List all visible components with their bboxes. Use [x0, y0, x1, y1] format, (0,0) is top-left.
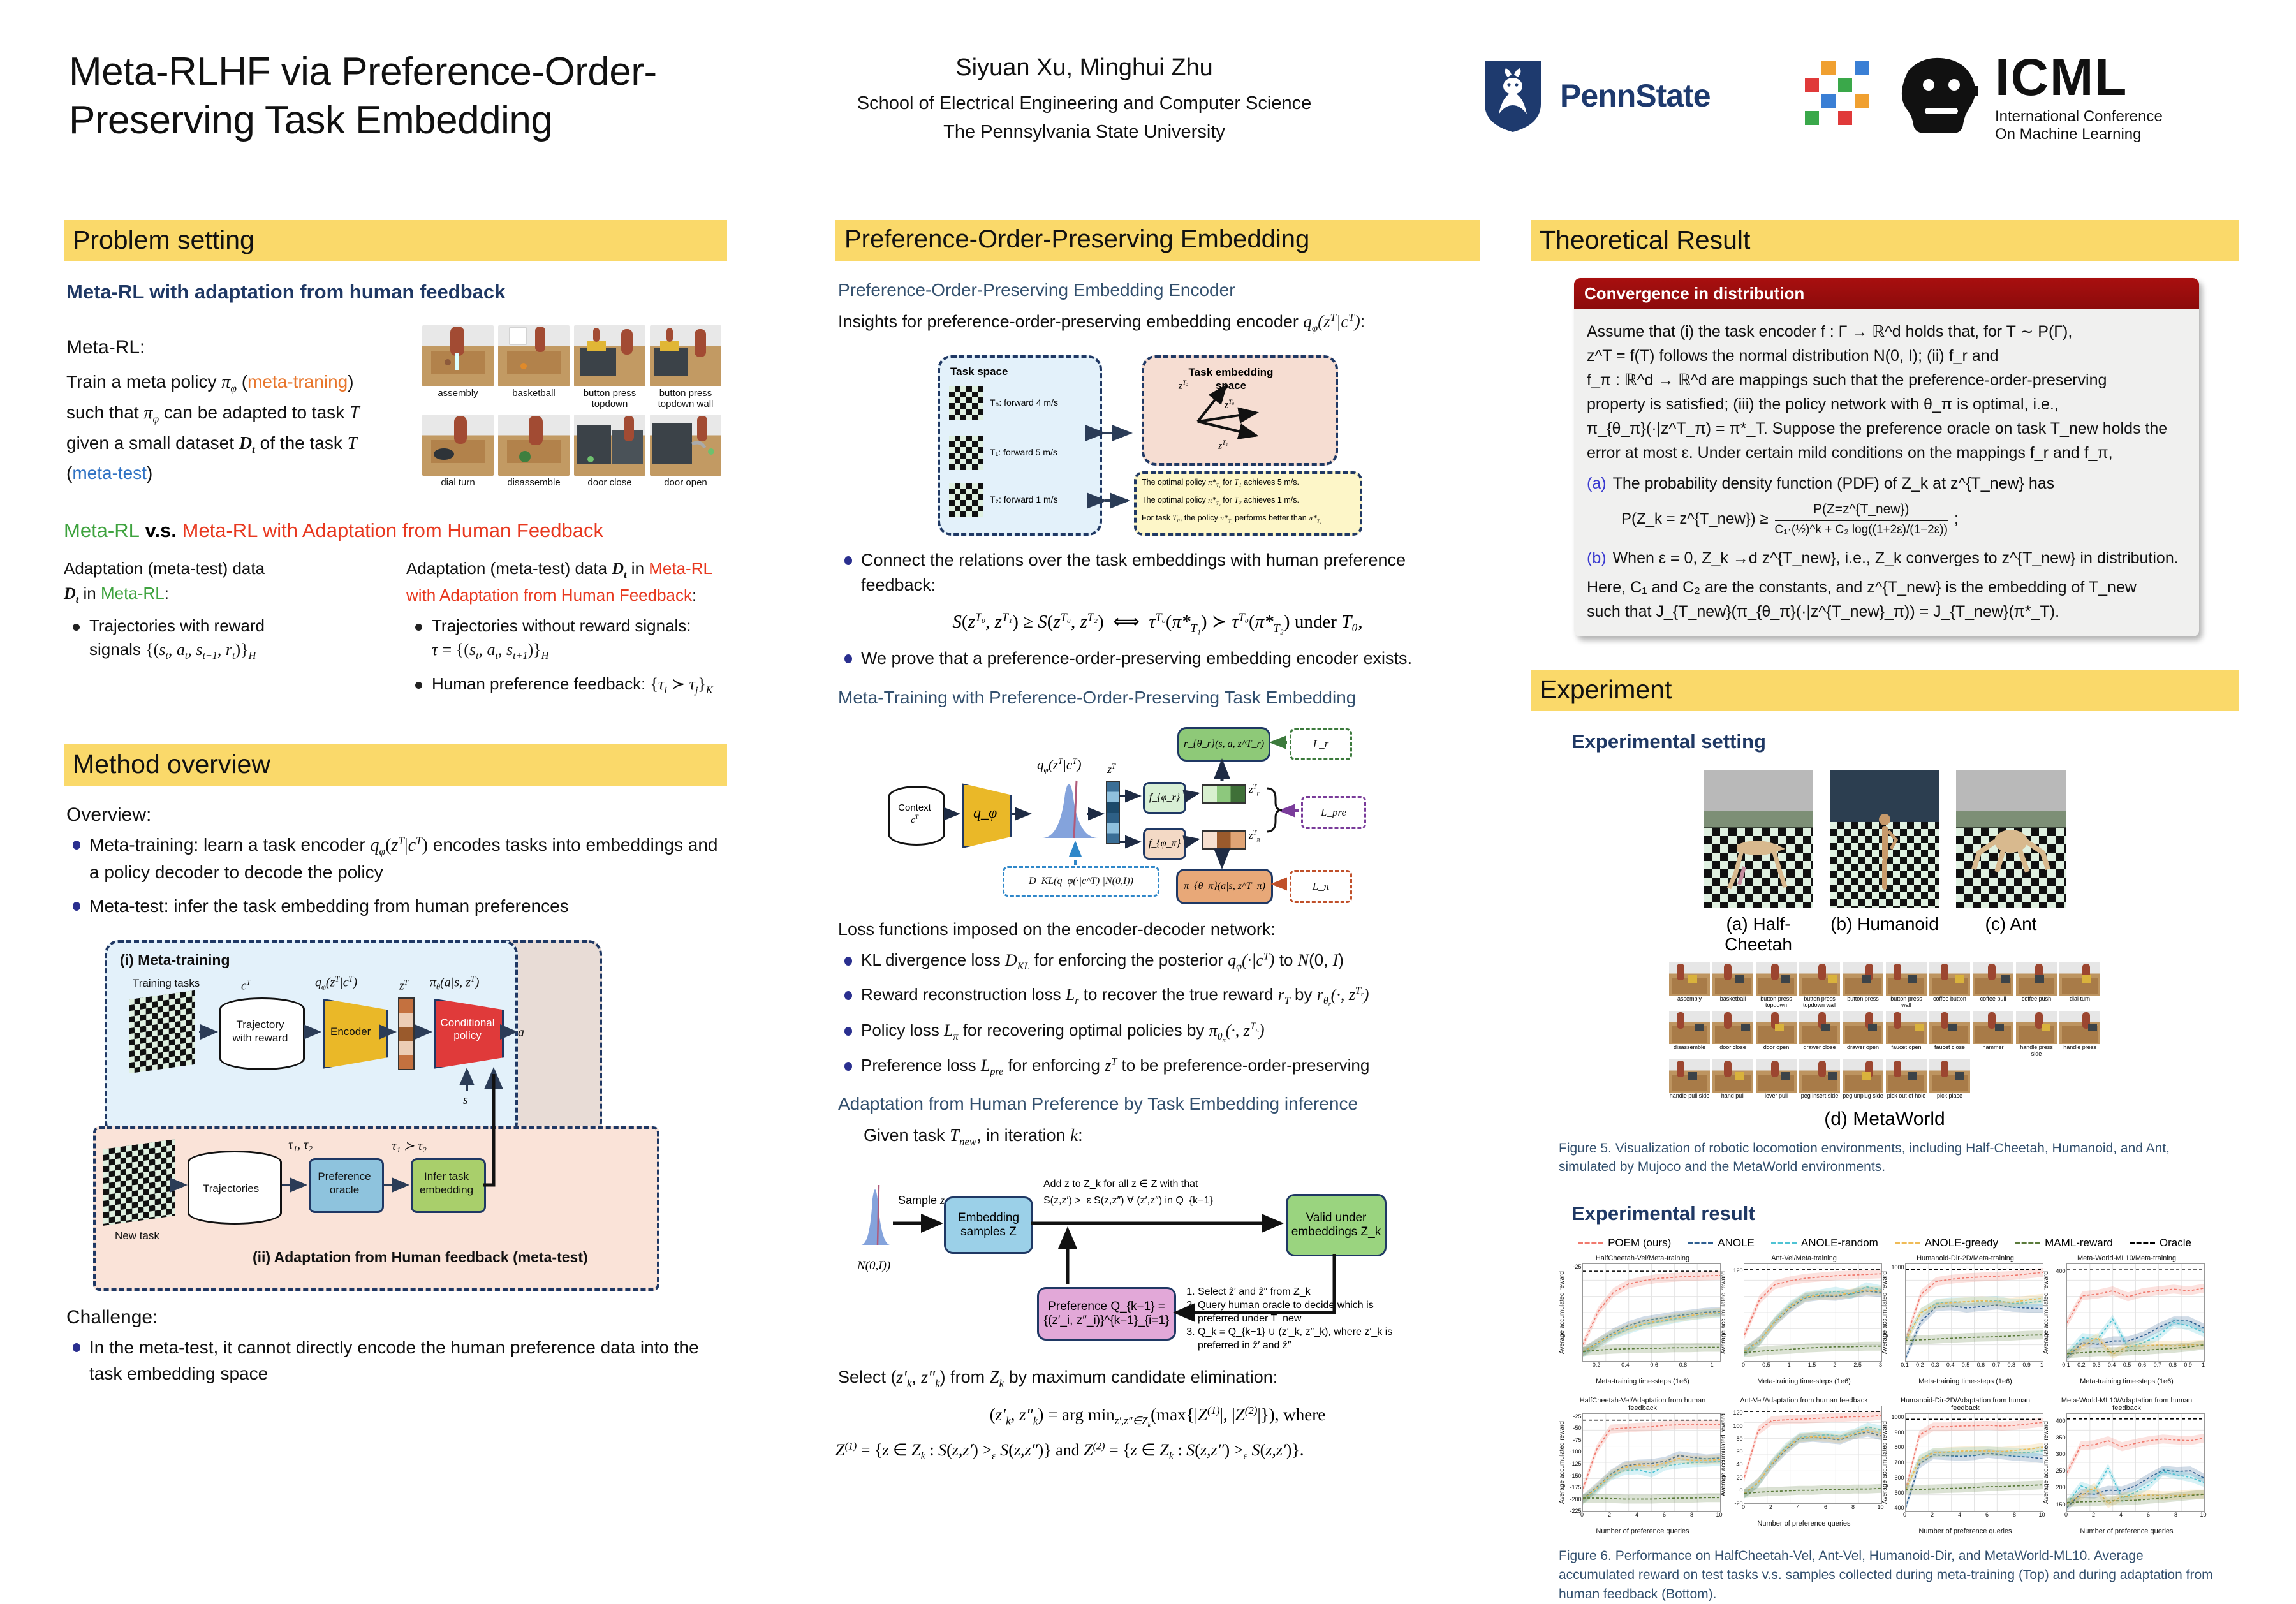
- robot-arm-thumb-image: [1669, 962, 1710, 996]
- thumb-caption: pick place: [1929, 1093, 1970, 1099]
- chart-series-svg: [2067, 1264, 2204, 1361]
- metaworld-small-thumb: lever pull: [1756, 1059, 1797, 1099]
- x-tick: 1.5: [1808, 1362, 1816, 1368]
- thumb-caption: assembly: [1669, 996, 1710, 1002]
- section-band-pope: Preference-Order-Preserving Embedding: [835, 220, 1480, 261]
- thumb-caption: coffee pull: [1973, 996, 2013, 1002]
- theorem-body: Assume that (i) the task encoder f : Γ →…: [1574, 309, 2199, 636]
- overview-label: Overview:: [66, 804, 727, 826]
- icml-wordmark: ICML International Conference On Machine…: [1995, 52, 2163, 142]
- robot-arm-image: [574, 325, 645, 386]
- comparison-right-list: Trajectories without reward signals:τ = …: [406, 614, 727, 698]
- x-axis-ticks: 0246810: [2066, 1512, 2204, 1519]
- comparison-left: Adaptation (meta-test) dataDt in Meta-RL…: [64, 556, 385, 707]
- theorem-assumption-6: error at most ε. Under certain mild cond…: [1587, 441, 2186, 465]
- author-names: Siyuan Xu, Minghui Zhu: [829, 54, 1339, 82]
- thumb-caption: pick out of hole: [1886, 1093, 1927, 1099]
- robot-arm-thumb-image: [1756, 1059, 1797, 1093]
- robot-arm-image: [422, 415, 494, 476]
- thumb-caption: button press topdown wall: [650, 388, 721, 410]
- y-axis-ticks: 1000900800700600500400: [1890, 1414, 1904, 1511]
- metaworld-small-thumb: button press topdown wall: [1799, 962, 1840, 1008]
- y-tick: 500: [1894, 1490, 1904, 1496]
- pennstate-wordmark: PennState: [1560, 77, 1711, 114]
- given-task-label: Given task Tnew, in iteration k:: [864, 1123, 1480, 1150]
- theorem-pdf-numerator: P(Z=z^{T_new}): [1813, 499, 1910, 520]
- metaworld-small-thumb: faucet close: [1929, 1011, 1970, 1057]
- comparison-heading: Meta-RL v.s. Meta-RL with Adaptation fro…: [64, 519, 727, 542]
- legend-entry: ANOLE-greedy: [1895, 1237, 1998, 1249]
- x-tick: 3: [1879, 1362, 1882, 1368]
- metaworld-small-thumb: button press: [1843, 962, 1883, 1008]
- penn-state-shield-icon: [1480, 58, 1546, 133]
- challenge-list: In the meta-test, it cannot directly enc…: [64, 1335, 727, 1387]
- chart: HalfCheetah-Vel/Adaptation from human fe…: [1566, 1397, 1719, 1535]
- fig1-conditional-policy-label: Conditionalpolicy: [439, 1017, 496, 1043]
- theorem-assumption-1: Assume that (i) the task encoder f : Γ →…: [1587, 320, 2186, 344]
- y-tick: 100: [1733, 1423, 1742, 1429]
- chart-plot-area: Average accumulated reward-25-50-75-100-…: [1582, 1413, 1721, 1512]
- icml-title: ICML: [1995, 52, 2163, 104]
- metaworld-thumb: button press topdown wall: [650, 325, 721, 410]
- metaworld-small-thumb: coffee pull: [1973, 962, 2013, 1008]
- robot-arm-thumb-image: [1712, 1059, 1753, 1093]
- embedding-vector-label-1: zT₁: [1218, 439, 1228, 452]
- x-axis-label: Meta-training time-steps (1e6): [1728, 1378, 1881, 1385]
- x-tick: 0.7: [2154, 1362, 2162, 1368]
- theorem-assumption-2: z^T = f(T) follows the normal distributi…: [1587, 344, 2186, 368]
- x-tick: 2: [1608, 1512, 1611, 1518]
- x-axis-label: Meta-training time-steps (1e6): [2050, 1378, 2204, 1385]
- y-tick: 350: [2056, 1434, 2065, 1441]
- robot-arm-image: [498, 325, 570, 386]
- x-tick: 6: [2147, 1512, 2150, 1518]
- thumb-caption: disassemble: [498, 478, 570, 489]
- pope-bullets-2: We prove that a preference-order-preserv…: [835, 646, 1480, 671]
- x-tick: 6: [1663, 1512, 1666, 1518]
- y-tick: -175: [1570, 1484, 1581, 1490]
- x-axis-label: Number of preference queries: [1728, 1520, 1881, 1527]
- list-item: Meta-training: learn a task encoder qφ(z…: [64, 832, 727, 886]
- x-tick: 8: [1690, 1512, 1693, 1518]
- thumb-caption: disassemble: [1669, 1045, 1710, 1050]
- chart-series-svg: [2067, 1414, 2204, 1511]
- x-tick: 0.2: [1916, 1362, 1924, 1368]
- env-caption-ant: (c) Ant: [1956, 914, 2066, 955]
- x-tick: 0: [2064, 1512, 2068, 1518]
- metaworld-thumb: dial turn: [422, 415, 494, 489]
- x-tick: 0: [1903, 1512, 1906, 1518]
- robot-arm-thumb-image: [2016, 1011, 2057, 1044]
- x-tick: 10: [1716, 1512, 1722, 1518]
- pope-bullets-1: Connect the relations over the task embe…: [835, 548, 1480, 598]
- metaworld-small-thumb: door open: [1756, 1011, 1797, 1057]
- robot-arm-image: [650, 415, 721, 476]
- x-tick: 10: [2200, 1512, 2206, 1518]
- robot-arm-thumb-image: [1756, 962, 1797, 996]
- legend-line-icon: [1578, 1242, 1603, 1244]
- x-tick: 8: [2013, 1512, 2016, 1518]
- x-tick: 1: [2202, 1362, 2205, 1368]
- theorem-item-a-text: The probability density function (PDF) o…: [1613, 471, 2055, 496]
- thumb-caption: lever pull: [1756, 1093, 1797, 1099]
- halfcheetah-image: [1704, 770, 1813, 908]
- theorem-card: Convergence in distribution Assume that …: [1574, 278, 2199, 636]
- x-tick: 1: [2040, 1362, 2043, 1368]
- fig1-q-label: qφ(zT|cT): [315, 975, 357, 992]
- metaworld-small-thumb: coffee button: [1929, 962, 1970, 1008]
- x-tick: 0.6: [1650, 1362, 1658, 1368]
- comparison-left-head: Adaptation (meta-test) dataDt in Meta-RL…: [64, 556, 385, 608]
- affiliation-university: The Pennsylvania State University: [829, 122, 1339, 143]
- robot-arm-image: [650, 325, 721, 386]
- chart: Meta-World-ML10/Meta-trainingAverage acc…: [2050, 1255, 2204, 1385]
- section-band-problem-setting: Problem setting: [64, 220, 727, 261]
- x-tick: 0.8: [1679, 1362, 1688, 1368]
- robot-arm-thumb-image: [1799, 1011, 1840, 1044]
- y-axis-ticks: 1000: [1890, 1264, 1904, 1361]
- theorem-pdf-denominator: C₁·(½)^k + C₂ log((1+2ε)/(1−2ε)): [1775, 521, 1948, 540]
- legend-label: Oracle: [2160, 1237, 2191, 1249]
- legend-line-icon: [1895, 1242, 1920, 1244]
- robot-arm-thumb-image: [1669, 1059, 1710, 1093]
- y-tick: 400: [1894, 1505, 1904, 1511]
- comparison-right-label: Meta-RL with Adaptation from Human Feedb…: [182, 519, 604, 541]
- x-axis-ticks: 0246810: [1744, 1504, 1881, 1512]
- metaworld-thumb: assembly: [422, 325, 494, 410]
- x-axis-ticks: 0.10.20.30.40.50.60.70.80.91: [2066, 1362, 2204, 1369]
- chart-title: Ant-Vel/Meta-training: [1728, 1255, 1881, 1262]
- y-axis-ticks: -25-50-75-100-125-150-175-200-225: [1568, 1414, 1582, 1511]
- theorem-item-a-label: (a): [1587, 471, 1607, 496]
- metaworld-thumb: button press topdown: [574, 325, 645, 410]
- robot-arm-thumb-image: [2016, 962, 2057, 996]
- y-axis-label: Average accumulated reward: [2043, 1264, 2050, 1361]
- task-note-line-1: The optimal policy π*T₂ for T₂ achieves …: [1142, 496, 1299, 506]
- x-axis-ticks: 0246810: [1905, 1512, 2042, 1519]
- x-tick: 4: [1797, 1504, 1800, 1510]
- x-tick: 0.5: [2123, 1362, 2131, 1368]
- chart-plot-area: Average accumulated reward10009008007006…: [1905, 1413, 2043, 1512]
- y-tick: 600: [1894, 1475, 1904, 1481]
- figure-6-caption: Figure 6. Performance on HalfCheetah-Vel…: [1559, 1547, 2222, 1603]
- fig1-preference-oracle-label: Preferenceoracle: [313, 1170, 376, 1197]
- metaworld-small-thumb: faucet open: [1886, 1011, 1927, 1057]
- legend-entry: ANOLE-random: [1771, 1237, 1878, 1249]
- thumb-caption: handle pull side: [1669, 1093, 1710, 1099]
- environment-images: [1531, 770, 2239, 908]
- y-tick: 250: [2056, 1468, 2065, 1474]
- y-tick: -25: [1573, 1263, 1581, 1270]
- legend-label: ANOLE-random: [1801, 1237, 1878, 1249]
- legend-line-icon: [2015, 1242, 2040, 1244]
- robot-arm-thumb-image: [1712, 1011, 1753, 1044]
- column-right: Theoretical Result Convergence in distri…: [1531, 220, 2239, 1604]
- fig1-state-label: s: [463, 1093, 468, 1108]
- y-axis-label: Average accumulated reward: [1881, 1264, 1888, 1361]
- x-tick: 8: [2174, 1512, 2177, 1518]
- y-tick: 120: [1733, 1409, 1742, 1416]
- thumb-caption: basketball: [1712, 996, 1753, 1002]
- chart: HalfCheetah-Vel/Meta-trainingAverage acc…: [1566, 1255, 1719, 1385]
- thumb-caption: dial turn: [422, 478, 494, 489]
- thumb-caption: button press: [1843, 996, 1883, 1002]
- pope-subhead-metatraining: Meta-Training with Preference-Order-Pres…: [838, 688, 1480, 708]
- metaworld-small-thumb: button press wall: [1886, 962, 1927, 1008]
- experimental-setting-head: Experimental setting: [1571, 730, 2239, 753]
- comparison-left-label: Meta-RL: [64, 519, 140, 541]
- x-axis-label: Meta-training time-steps (1e6): [1566, 1378, 1719, 1385]
- list-item: Meta-test: infer the task embedding from…: [64, 894, 727, 919]
- humanoid-image: [1830, 770, 1939, 908]
- y-tick: -200: [1570, 1496, 1581, 1503]
- theorem-item-b-label: (b): [1587, 546, 1607, 570]
- x-tick: 4: [1635, 1512, 1638, 1518]
- pope-equation-1: S(zT₀, zT₁) ≥ S(zT₀, zT₂) ⟺ τT₀(π*T₁) ≻ …: [835, 610, 1480, 635]
- theorem-pdf-semicolon: ;: [1954, 508, 1959, 531]
- y-axis-ticks: -25: [1568, 1264, 1582, 1361]
- figure-1-overview-diagram: (i) Meta-training Training tasks cT Traj…: [93, 935, 654, 1235]
- theorem-assumption-4: property is satisfied; (iii) the policy …: [1587, 392, 2186, 416]
- pennstate-logo: PennState: [1480, 54, 1779, 137]
- x-axis-ticks: 0.20.40.60.81: [1582, 1362, 1719, 1369]
- y-tick: 120: [1733, 1267, 1742, 1274]
- task-note-line-0: The optimal policy π*T₁ for T₁ achieves …: [1142, 478, 1299, 489]
- x-tick: 0.4: [1946, 1362, 1955, 1368]
- y-tick: 400: [2056, 1418, 2065, 1424]
- fig1-infer-embedding-label: Infer taskembedding: [415, 1170, 478, 1197]
- chart-title: HalfCheetah-Vel/Adaptation from human fe…: [1566, 1397, 1719, 1412]
- pope-equation-2: (z′k, z″k) = arg minz′,z″∈Zk(max{|Z(1)|,…: [835, 1404, 1480, 1429]
- metaworld-thumb: basketball: [498, 325, 570, 410]
- metaworld-thumb: door close: [574, 415, 645, 489]
- thumb-caption: button press topdown: [574, 388, 645, 410]
- y-tick: 40: [1736, 1461, 1742, 1468]
- robot-arm-thumb-image: [1886, 1059, 1927, 1093]
- y-tick: 700: [1894, 1459, 1904, 1466]
- metaworld-grid: assemblybasketballbutton press topdownbu…: [1531, 962, 2239, 1099]
- list-item: Trajectories without reward signals:τ = …: [406, 614, 727, 664]
- y-tick: 20: [1736, 1475, 1742, 1481]
- fig1-meta-training-title: (i) Meta-training: [120, 952, 230, 969]
- comparison-right-head: Adaptation (meta-test) data Dt in Meta-R…: [406, 556, 727, 608]
- chart-series-svg: [1744, 1264, 1881, 1361]
- metaworld-label: (d) MetaWorld: [1531, 1108, 2239, 1130]
- thumb-caption: assembly: [422, 388, 494, 399]
- x-tick: 0.7: [1992, 1362, 2001, 1368]
- y-tick: -225: [1570, 1508, 1581, 1514]
- thumb-caption: faucet open: [1886, 1045, 1927, 1050]
- list-item: KL divergence loss DKL for enforcing the…: [835, 948, 1480, 974]
- y-tick: 800: [1894, 1444, 1904, 1450]
- robot-arm-thumb-image: [1929, 962, 1970, 996]
- thumb-caption: hand pull: [1712, 1093, 1753, 1099]
- icml-subtitle-2: On Machine Learning: [1995, 127, 2163, 142]
- x-tick: 0.8: [2007, 1362, 2015, 1368]
- metaworld-small-thumb: button press topdown: [1756, 962, 1797, 1008]
- chart-title: HalfCheetah-Vel/Meta-training: [1566, 1255, 1719, 1262]
- list-item: Preference loss Lpre for enforcing zT to…: [835, 1054, 1480, 1079]
- fig1-trajectory-label: Trajectorywith reward: [227, 1018, 293, 1045]
- metaworld-small-thumb: coffee push: [2016, 962, 2057, 1008]
- y-axis-label: Average accumulated reward: [1559, 1414, 1566, 1511]
- figure-task-embedding-diagram: Task space Task embeddingspace T₀: forwa…: [938, 346, 1429, 538]
- robot-arm-thumb-image: [2059, 962, 2100, 996]
- x-tick: 0: [1742, 1504, 1745, 1510]
- figure-encoder-decoder-diagram: ContextcT q_φ qφ(zT|cT) zT f_{φ_r} f_{φ_…: [884, 717, 1458, 908]
- x-tick: 0: [1580, 1512, 1584, 1518]
- metaworld-small-thumb: peg unplug side: [1843, 1059, 1883, 1099]
- metaworld-small-thumb: drawer open: [1843, 1011, 1883, 1057]
- chart: Ant-Vel/Meta-trainingAverage accumulated…: [1728, 1255, 1881, 1385]
- list-item: In the meta-test, it cannot directly enc…: [64, 1335, 727, 1387]
- legend-entry: MAML-reward: [2015, 1237, 2113, 1249]
- metaworld-small-thumb: door close: [1712, 1011, 1753, 1057]
- fig1-encoder-label: Encoder: [330, 1026, 371, 1038]
- x-tick: 6: [1824, 1504, 1827, 1510]
- fig1-policy-label: πθ(a|s, zT): [430, 975, 479, 992]
- fig4-arrows: [857, 1154, 1469, 1358]
- robot-arm-thumb-image: [1973, 1011, 2013, 1044]
- x-tick: 6: [1985, 1512, 1989, 1518]
- y-tick: -75: [1573, 1437, 1581, 1443]
- thumb-caption: door close: [574, 478, 645, 489]
- x-axis-ticks: 0246810: [1582, 1512, 1719, 1519]
- x-tick: 4: [2119, 1512, 2123, 1518]
- poster-header: Meta-RLHF via Preference-Order-Preservin…: [0, 0, 2296, 198]
- x-tick: 0: [1742, 1362, 1745, 1368]
- x-tick: 0.5: [1962, 1362, 1970, 1368]
- theorem-here-2: such that J_{T_new}(π_{θ_π}(·|z^{T_new}_…: [1587, 600, 2186, 624]
- chart-row-bottom: HalfCheetah-Vel/Adaptation from human fe…: [1531, 1397, 2239, 1535]
- robot-arm-thumb-image: [1799, 962, 1840, 996]
- chart-series-svg: [1583, 1414, 1720, 1511]
- experimental-result-head: Experimental result: [1571, 1202, 2239, 1225]
- theorem-assumption-5: π_{θ_π}(·|z^T_π) = π*_T. Suppose the pre…: [1587, 416, 2186, 441]
- x-tick: 0.4: [2108, 1362, 2116, 1368]
- legend-label: POEM (ours): [1608, 1237, 1671, 1249]
- x-tick: 0.1: [1901, 1362, 1909, 1368]
- chart-plot-area: Average accumulated reward12010080604020…: [1744, 1406, 1882, 1504]
- robot-arm-thumb-image: [1843, 962, 1883, 996]
- x-tick: 0.1: [2062, 1362, 2070, 1368]
- y-tick: 900: [1894, 1429, 1904, 1436]
- env-caption-humanoid: (b) Humanoid: [1830, 914, 1939, 955]
- fig1-tau-pair-label: τ₁, τ₂: [288, 1138, 313, 1152]
- chart-title: Humanoid-Dir-2D/Adaptation from human fe…: [1889, 1397, 2042, 1412]
- chart-plot-area: Average accumulated reward1000: [1905, 1263, 2043, 1362]
- thumb-caption: door open: [1756, 1045, 1797, 1050]
- robot-arm-thumb-image: [1929, 1011, 1970, 1044]
- column-left: Problem setting Meta-RL with adaptation …: [64, 220, 727, 1395]
- metaworld-small-thumb: assembly: [1669, 962, 1710, 1008]
- thumb-caption: button press topdown wall: [1799, 996, 1840, 1008]
- x-tick: 2.5: [1853, 1362, 1862, 1368]
- metaworld-thumb: door open: [650, 415, 721, 489]
- legend-label: ANOLE: [1718, 1237, 1755, 1249]
- y-axis-ticks: 400350300250200150: [2052, 1414, 2066, 1511]
- x-axis-ticks: 00.511.522.53: [1744, 1362, 1881, 1369]
- fig3-arrows: [884, 717, 1458, 908]
- x-tick: 0.2: [1593, 1362, 1601, 1368]
- x-tick: 2: [1833, 1362, 1836, 1368]
- metarl-label: Meta-RL:: [66, 337, 408, 358]
- y-tick: -125: [1570, 1461, 1581, 1467]
- thumb-caption: dial turn: [2059, 996, 2100, 1002]
- thumb-caption: faucet close: [1929, 1045, 1970, 1050]
- robot-arm-thumb-image: [1886, 962, 1927, 996]
- env-caption-halfcheetah: (a) Half-Cheetah: [1704, 914, 1813, 955]
- chart-title: Humanoid-Dir-2D/Meta-training: [1889, 1255, 2042, 1262]
- metaworld-task-thumbnails: assembly basketball button press topdown…: [422, 325, 721, 488]
- x-tick: 0.3: [1931, 1362, 1939, 1368]
- metaworld-small-thumb: hammer: [1973, 1011, 2013, 1057]
- fig1-new-task-label: New task: [115, 1230, 159, 1242]
- legend-entry: ANOLE: [1688, 1237, 1755, 1249]
- theorem-pdf-lhs: P(Z_k = z^{T_new}) ≥: [1621, 508, 1769, 531]
- y-tick: 60: [1736, 1448, 1742, 1455]
- thumb-caption: handle press: [2059, 1045, 2100, 1050]
- metaworld-small-thumb: basketball: [1712, 962, 1753, 1008]
- chart: Humanoid-Dir-2D/Adaptation from human fe…: [1889, 1397, 2042, 1535]
- task-note-line-2: For task T₀, the policy π*T₁ performs be…: [1142, 513, 1321, 524]
- chart: Humanoid-Dir-2D/Meta-trainingAverage acc…: [1889, 1255, 2042, 1385]
- challenge-label: Challenge:: [66, 1307, 727, 1328]
- robot-arm-thumb-image: [1669, 1011, 1710, 1044]
- chart-row-top: HalfCheetah-Vel/Meta-trainingAverage acc…: [1531, 1255, 2239, 1385]
- fig1-meta-test-title: (ii) Adaptation from Human feedback (met…: [253, 1249, 588, 1266]
- robot-arm-thumb-image: [1843, 1011, 1883, 1044]
- problem-subhead: Meta-RL with adaptation from human feedb…: [66, 281, 727, 304]
- legend-label: MAML-reward: [2045, 1237, 2113, 1249]
- robot-arm-thumb-image: [1929, 1059, 1970, 1093]
- x-tick: 0.3: [2093, 1362, 2101, 1368]
- page-title: Meta-RLHF via Preference-Order-Preservin…: [69, 48, 828, 144]
- metaworld-small-thumb: hand pull: [1712, 1059, 1753, 1099]
- metaworld-small-thumb: dial turn: [2059, 962, 2100, 1008]
- loss-functions-list: KL divergence loss DKL for enforcing the…: [835, 948, 1480, 1079]
- thumb-caption: drawer close: [1799, 1045, 1840, 1050]
- y-tick: 200: [2056, 1484, 2065, 1490]
- comparison-right: Adaptation (meta-test) data Dt in Meta-R…: [406, 556, 727, 707]
- poster-root: Meta-RLHF via Preference-Order-Preservin…: [0, 0, 2296, 1531]
- chart-series-svg: [1906, 1264, 2043, 1361]
- theorem-here-1: Here, C₁ and C₂ are the constants, and z…: [1587, 575, 2186, 600]
- thumb-caption: hammer: [1973, 1045, 2013, 1050]
- chart-plot-area: Average accumulated reward120: [1744, 1263, 1882, 1362]
- thumb-caption: door open: [650, 478, 721, 489]
- legend-label: ANOLE-greedy: [1925, 1237, 1998, 1249]
- comparison-left-list: Trajectories with rewardsignals {(st, at…: [64, 614, 385, 664]
- legend-entry: POEM (ours): [1578, 1237, 1671, 1249]
- chart-plot-area: Average accumulated reward40035030025020…: [2066, 1413, 2205, 1512]
- y-axis-ticks: 400: [2052, 1264, 2066, 1361]
- theorem-title: Convergence in distribution: [1574, 278, 2199, 309]
- list-item: Connect the relations over the task embe…: [835, 548, 1480, 598]
- robot-arm-image: [422, 325, 494, 386]
- pope-subhead-adaptation: Adaptation from Human Preference by Task…: [838, 1094, 1480, 1114]
- y-axis-label: Average accumulated reward: [1720, 1406, 1727, 1503]
- list-item: We prove that a preference-order-preserv…: [835, 646, 1480, 671]
- comparison-columns: Adaptation (meta-test) dataDt in Meta-RL…: [64, 556, 727, 707]
- x-tick: 8: [1851, 1504, 1855, 1510]
- list-item: Reward reconstruction loss Lr to recover…: [835, 983, 1480, 1010]
- thumb-caption: coffee button: [1929, 996, 1970, 1002]
- thumb-caption: peg insert side: [1799, 1093, 1840, 1099]
- x-axis-label: Number of preference queries: [1889, 1527, 2042, 1535]
- robot-arm-image: [498, 415, 570, 476]
- chart-series-svg: [1583, 1264, 1720, 1361]
